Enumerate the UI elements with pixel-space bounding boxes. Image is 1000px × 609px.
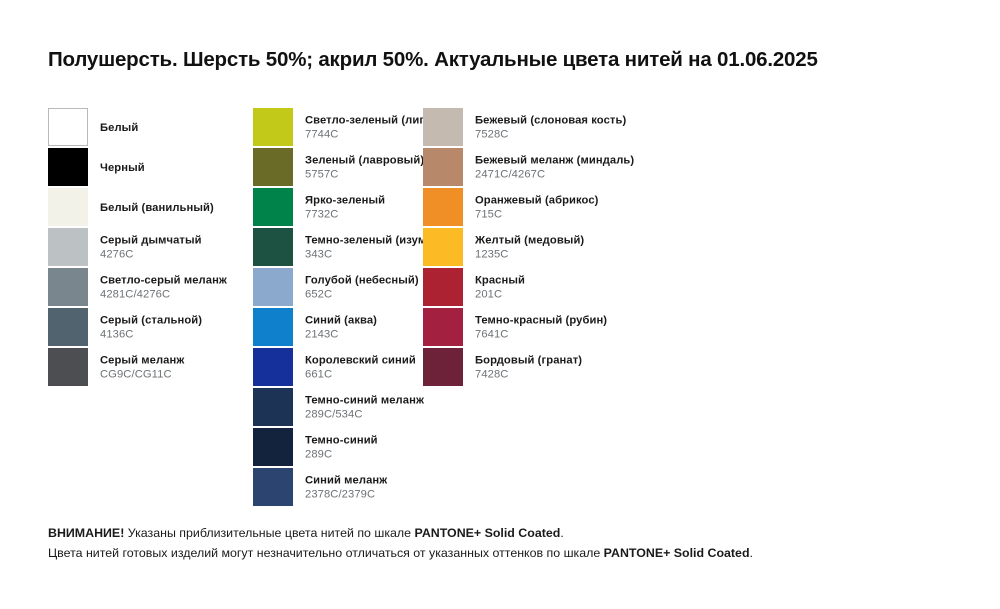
color-name: Светло-зеленый (липа) — [305, 114, 436, 128]
pantone-code: 5757C — [305, 168, 424, 182]
pantone-code: 4281C/4276C — [100, 288, 227, 302]
swatch-labels: Желтый (медовый)1235C — [475, 234, 584, 263]
swatch-labels: Ярко-зеленый7732C — [305, 194, 385, 223]
pantone-code: 4136C — [100, 328, 202, 342]
swatch-labels: Синий меланж2378C/2379C — [305, 474, 387, 503]
color-name: Красный — [475, 274, 525, 288]
color-chip — [48, 308, 88, 346]
pantone-code: 289C — [305, 448, 378, 462]
footer-line-1-end: . — [560, 526, 563, 540]
pantone-code: 7528C — [475, 128, 626, 142]
pantone-code: 2378C/2379C — [305, 488, 387, 502]
swatch-labels: Черный — [100, 161, 145, 175]
color-chip — [253, 228, 293, 266]
footer-attention-label: ВНИМАНИЕ! — [48, 526, 124, 540]
color-chip — [253, 188, 293, 226]
color-name: Серый дымчатый — [100, 234, 202, 248]
swatch-labels: Темно-синий289C — [305, 434, 378, 463]
color-name: Синий (аква) — [305, 314, 377, 328]
color-name: Темно-синий меланж — [305, 394, 424, 408]
color-name: Серый (стальной) — [100, 314, 202, 328]
color-name: Желтый (медовый) — [475, 234, 584, 248]
color-chip — [253, 388, 293, 426]
swatch-labels: Оранжевый (абрикос)715C — [475, 194, 599, 223]
swatch-row: Красный201C — [423, 268, 683, 308]
swatch-labels: Серый меланжCG9C/CG11C — [100, 354, 184, 383]
color-name: Светло-серый меланж — [100, 274, 227, 288]
color-name: Темно-синий — [305, 434, 378, 448]
color-chip — [48, 148, 88, 186]
color-chip — [423, 268, 463, 306]
pantone-brand-1: PANTONE+ Solid Coated — [414, 526, 560, 540]
swatch-labels: Серый (стальной)4136C — [100, 314, 202, 343]
pantone-code: 2143C — [305, 328, 377, 342]
color-chip — [48, 268, 88, 306]
pantone-code: 7428C — [475, 368, 582, 382]
footer-line-1: ВНИМАНИЕ! Указаны приблизительные цвета … — [48, 523, 968, 543]
swatch-labels: Светло-серый меланж4281C/4276C — [100, 274, 227, 303]
pantone-code: 7744C — [305, 128, 436, 142]
swatch-row: Оранжевый (абрикос)715C — [423, 188, 683, 228]
pantone-code: 715C — [475, 208, 599, 222]
color-chip — [423, 348, 463, 386]
color-chip — [423, 188, 463, 226]
pantone-code: 661C — [305, 368, 416, 382]
color-chip — [253, 348, 293, 386]
footer-line-1-text: Указаны приблизительные цвета нитей по ш… — [124, 526, 414, 540]
color-name: Темно-красный (рубин) — [475, 314, 607, 328]
pantone-code: 4276C — [100, 248, 202, 262]
color-name: Синий меланж — [305, 474, 387, 488]
footer-note: ВНИМАНИЕ! Указаны приблизительные цвета … — [48, 523, 968, 563]
swatch-labels: Зеленый (лавровый)5757C — [305, 154, 424, 183]
swatch-row: Бордовый (гранат)7428C — [423, 348, 683, 388]
page-title: Полушерсть. Шерсть 50%; акрил 50%. Актуа… — [48, 48, 818, 72]
pantone-code: 7732C — [305, 208, 385, 222]
color-chip — [423, 148, 463, 186]
pantone-code: 289C/534C — [305, 408, 424, 422]
pantone-code: 652C — [305, 288, 419, 302]
pantone-brand-2: PANTONE+ Solid Coated — [604, 546, 750, 560]
swatch-labels: Серый дымчатый4276C — [100, 234, 202, 263]
pantone-code: CG9C/CG11C — [100, 368, 184, 382]
color-chip — [253, 268, 293, 306]
swatch-row: Темно-синий289C — [253, 428, 513, 468]
swatch-column-warm: Бежевый (слоновая кость)7528CБежевый мел… — [423, 108, 683, 388]
color-chip — [48, 348, 88, 386]
swatch-row: Бежевый (слоновая кость)7528C — [423, 108, 683, 148]
color-name: Ярко-зеленый — [305, 194, 385, 208]
color-name: Оранжевый (абрикос) — [475, 194, 599, 208]
footer-line-2: Цвета нитей готовых изделий могут незнач… — [48, 543, 968, 563]
color-chip — [253, 148, 293, 186]
color-chip — [48, 108, 88, 146]
swatch-labels: Синий (аква)2143C — [305, 314, 377, 343]
pantone-code: 1235C — [475, 248, 584, 262]
color-chip — [423, 108, 463, 146]
swatch-row: Синий меланж2378C/2379C — [253, 468, 513, 508]
footer-line-2-end: . — [750, 546, 753, 560]
color-chip — [423, 228, 463, 266]
color-name: Белый — [100, 121, 138, 135]
pantone-code: 201C — [475, 288, 525, 302]
swatch-labels: Королевский синий661C — [305, 354, 416, 383]
swatch-labels: Белый (ванильный) — [100, 201, 214, 215]
color-chip — [423, 308, 463, 346]
swatch-labels: Бордовый (гранат)7428C — [475, 354, 582, 383]
color-chip — [253, 468, 293, 506]
swatch-labels: Темно-синий меланж289C/534C — [305, 394, 424, 423]
color-chip — [48, 228, 88, 266]
color-name: Голубой (небесный) — [305, 274, 419, 288]
swatch-row: Темно-синий меланж289C/534C — [253, 388, 513, 428]
swatch-labels: Красный201C — [475, 274, 525, 303]
swatch-labels: Бежевый меланж (миндаль)2471C/4267C — [475, 154, 634, 183]
swatch-labels: Темно-красный (рубин)7641C — [475, 314, 607, 343]
color-chip — [253, 308, 293, 346]
color-chart-page: Полушерсть. Шерсть 50%; акрил 50%. Актуа… — [0, 0, 1000, 609]
swatch-labels: Голубой (небесный)652C — [305, 274, 419, 303]
color-name: Бежевый (слоновая кость) — [475, 114, 626, 128]
swatch-labels: Светло-зеленый (липа)7744C — [305, 114, 436, 143]
swatch-labels: Белый — [100, 121, 138, 135]
pantone-code: 7641C — [475, 328, 607, 342]
color-name: Бежевый меланж (миндаль) — [475, 154, 634, 168]
swatch-row: Бежевый меланж (миндаль)2471C/4267C — [423, 148, 683, 188]
swatch-row: Желтый (медовый)1235C — [423, 228, 683, 268]
color-name: Зеленый (лавровый) — [305, 154, 424, 168]
color-chip — [253, 428, 293, 466]
color-name: Королевский синий — [305, 354, 416, 368]
color-name: Бордовый (гранат) — [475, 354, 582, 368]
color-chip — [48, 188, 88, 226]
color-name: Серый меланж — [100, 354, 184, 368]
pantone-code: 2471C/4267C — [475, 168, 634, 182]
swatch-row: Темно-красный (рубин)7641C — [423, 308, 683, 348]
color-name: Черный — [100, 161, 145, 175]
color-chip — [253, 108, 293, 146]
footer-line-2-text: Цвета нитей готовых изделий могут незнач… — [48, 546, 604, 560]
color-name: Белый (ванильный) — [100, 201, 214, 215]
swatch-labels: Бежевый (слоновая кость)7528C — [475, 114, 626, 143]
